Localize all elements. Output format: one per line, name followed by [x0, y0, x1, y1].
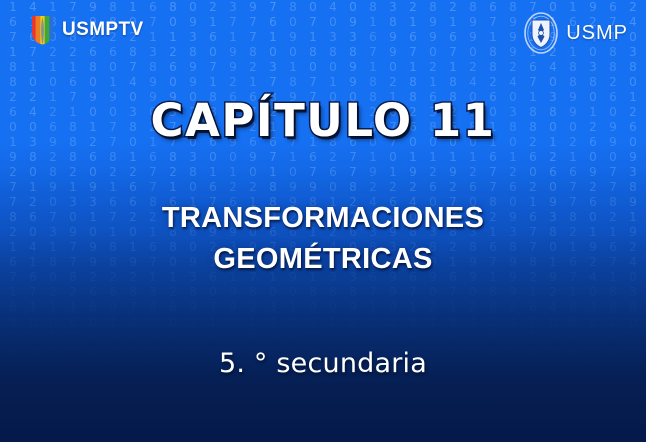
usmptv-wordmark: USMPTV	[62, 19, 144, 41]
usmp-shield-crest-icon	[524, 12, 558, 54]
title-slide: 7 7 8 2 1 6 7 1 8 8 2 6 0 1 9 2 7 7 8 2 …	[0, 0, 646, 442]
usmp-logo: USMP	[524, 12, 628, 54]
subject-title-line-1: TRANSFORMACIONES	[0, 198, 646, 239]
grade-level-label: 5. ° secundaria	[0, 348, 646, 379]
usmptv-logo: USMPTV	[30, 15, 144, 45]
subject-title: TRANSFORMACIONES GEOMÉTRICAS	[0, 198, 646, 280]
usmp-wordmark: USMP	[566, 22, 628, 45]
chapter-title: CAPÍTULO 11	[0, 95, 646, 147]
usmptv-rainbow-mark-icon	[30, 15, 55, 45]
subject-title-line-2: GEOMÉTRICAS	[0, 239, 646, 280]
